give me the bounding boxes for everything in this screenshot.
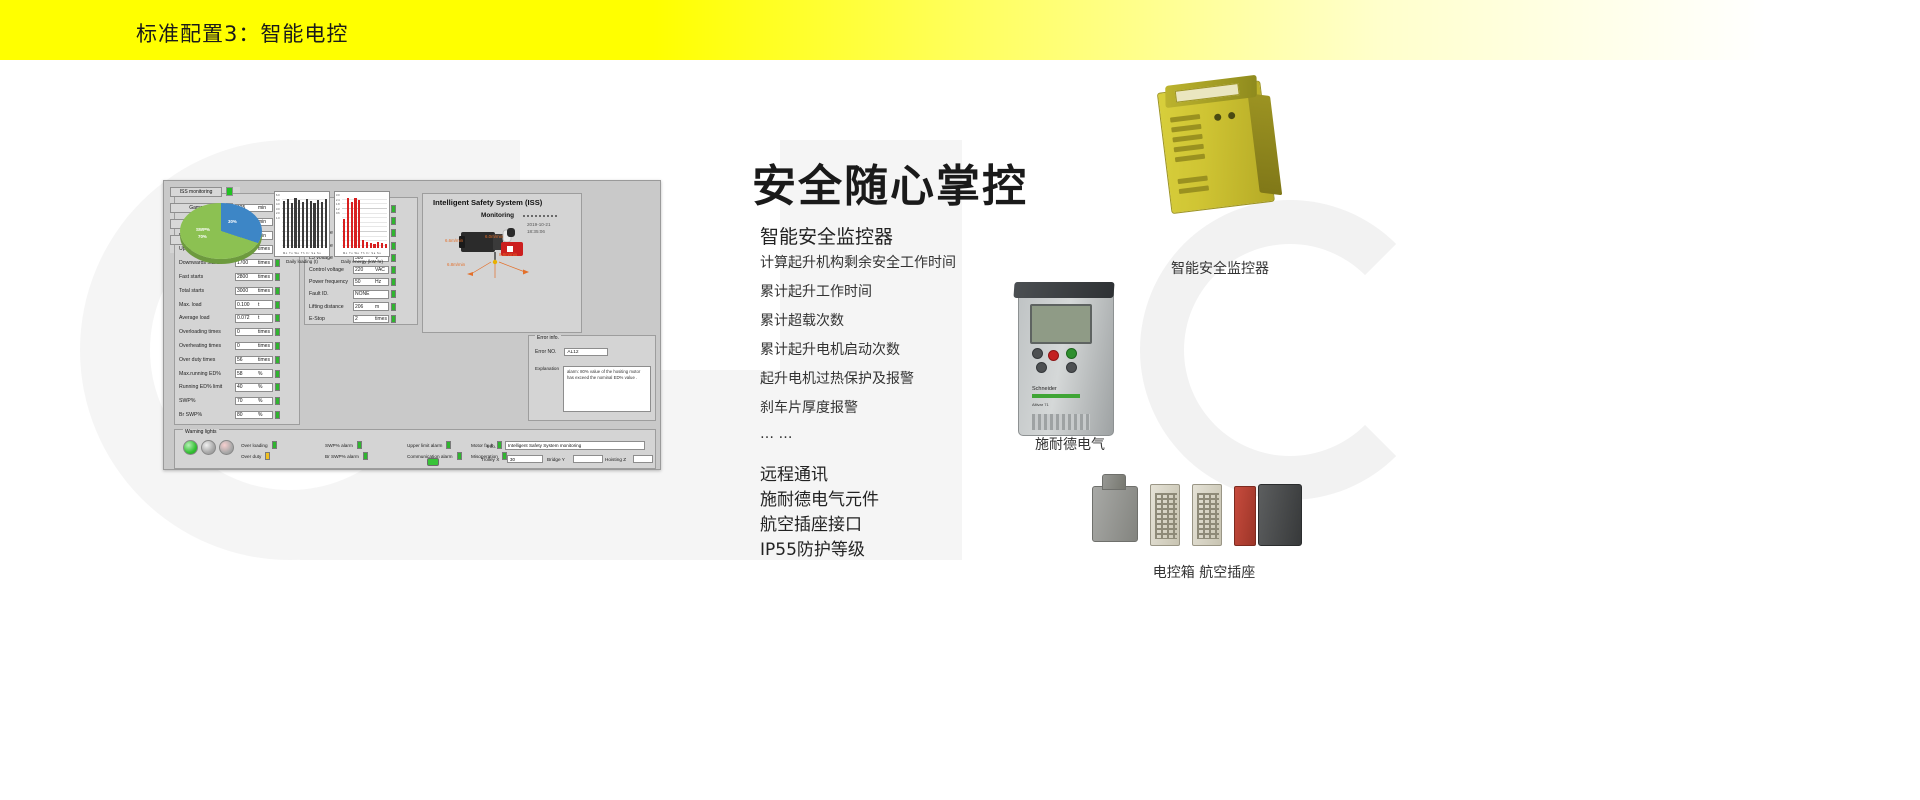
status-row: Max. load0.100t [179,300,280,310]
status-row-led [275,273,280,281]
measurement-row: Control voltage220VAC [309,265,396,275]
alarm-label: Over loading [241,443,268,448]
feature-bullet: 施耐德电气元件 [760,485,879,510]
pie-green-label-2: 70% [198,234,207,239]
measurement-row-label: Control voltage [309,267,353,273]
measurement-row-label: E-Stop [309,316,353,322]
chart-bar [347,198,349,248]
safety-relay-image [1150,71,1286,225]
alarm-indicator: Over loading [241,441,277,449]
status-row-label: Fast starts [179,274,235,280]
feature-item: 累计超载次数 [760,310,844,330]
measurement-row-led [391,242,396,250]
chart-bar [321,202,323,248]
trolley-label: Trolley X [481,457,499,462]
product-caption-relay: 智能安全监控器 [1130,258,1310,278]
alarm-led [272,441,277,449]
bridge-value[interactable] [573,455,603,463]
alarm-led [265,452,270,460]
status-row-field[interactable]: 3000times [235,287,273,295]
status-row-label: Overheating times [179,343,235,349]
feature-item: 起升电机过热保护及报警 [760,368,914,388]
error-no-label: Error NO. [535,349,556,355]
connector-insert-image [1150,484,1180,546]
hoisting-label: Hoisting Z [605,457,626,462]
daily-loading-chart: 6.05.04.03.02.01.0 Mo Tu We Th Fr Sa Su [274,191,330,257]
feature-bullet: 航空插座接口 [760,510,862,535]
chart-bar [381,243,383,248]
status-row-label: SWP% [179,398,235,404]
feature-item: 刹车片厚度报警 [760,397,858,417]
warning-lamp [219,440,234,455]
status-row-field[interactable]: 80% [235,411,273,419]
confirm-button[interactable] [427,458,439,466]
error-group-title: Error info. [535,335,561,341]
status-row-field[interactable]: 0.100t [235,300,273,308]
status-row: Br SWP%80% [179,410,280,420]
status-row-led [275,328,280,336]
status-row: Max.running ED%58% [179,369,280,379]
status-row-field[interactable]: 58% [235,369,273,377]
feature-item: 计算起升机构剩余安全工作时间 [760,252,956,272]
status-row-led [275,287,280,295]
chart-bar [287,199,289,248]
measurement-row: Power frequency50Hz [309,277,396,287]
info-value: Intelligent Safety System monitoring [505,441,645,450]
status-row-label: Total starts [179,288,235,294]
chart-bar [291,203,293,248]
alarm-led [497,441,502,449]
feature-bullet: IP55防护等级 [760,535,865,560]
speed-annotation: 8.8m/min [499,252,517,257]
hoisting-value[interactable] [633,455,653,463]
chart-bar [343,219,345,248]
alarm-label: Upper limit alarm [407,443,442,448]
monitoring-dots [523,215,557,217]
status-row-led [275,411,280,419]
daily-energy-caption: Daily energy (kW·hr) [332,259,392,264]
feature-item: 累计起升工作时间 [760,281,872,301]
daily-energy-chart: 3.02.41.81.20.6 Mo Tu We Th Fr Sa Su [334,191,390,257]
measurement-row: Lifting distance206m [309,302,396,312]
status-row-field[interactable]: 56times [235,356,273,364]
chart-bar [373,244,375,248]
product-caption-connector: 电控箱 航空插座 [1104,562,1304,582]
status-row-led [275,314,280,322]
status-row-led [275,397,280,405]
slogan: 安全随心掌控 [752,150,1028,214]
connector-shell-image [1234,486,1256,546]
pie-blue-label: 30% [228,219,237,224]
chart-y-axis: 3.02.41.81.20.6 [336,194,340,217]
chart-bar [298,200,300,248]
measurement-row-led [391,315,396,323]
product-caption-vfd: 施耐德电气 [980,434,1160,454]
monitoring-label: Monitoring [481,212,514,219]
page-header: 标准配置3：智能电控 [0,0,1920,60]
chart-bar [358,200,360,248]
measurement-row-led [391,217,396,225]
connector-dark-image [1258,484,1302,546]
vfd-brand: Schneider [1032,386,1057,392]
status-row-label: Overloading times [179,329,235,335]
trolley-value[interactable]: 30 [507,455,543,463]
status-row-label: Max. load [179,302,235,308]
alarm-label: SWP% alarm [325,443,353,448]
warning-lights-group: Warning lights Over loadingOver dutySWP%… [174,429,656,469]
status-row-label: Running ED% limit [179,384,235,390]
info-label: Info. [487,444,496,449]
speed-annotation: 6.6m/min [445,238,463,243]
speed-annotation: 6.8m/min [447,262,465,267]
status-row-label: Br SWP% [179,412,235,418]
connector-insert-2-image [1192,484,1222,546]
chart-bar [310,201,312,248]
iss-title: Intelligent Safety System (ISS) [433,198,542,207]
error-no-value: AL12 [564,348,608,356]
status-row-led [275,356,280,364]
alarm-indicator: Br SWP% alarm [325,452,368,460]
chart-bar [283,201,285,248]
feature-heading: 智能安全监控器 [760,222,893,249]
hmi-panel: Status Total running time625minUpwards t… [163,180,661,470]
status-row-label: Over duty times [179,357,235,363]
measurement-row-led [391,290,396,298]
measurement-row-led [391,229,396,237]
status-row-field[interactable]: 40% [235,383,273,391]
vfd-image: Schneider Altivar 71 [1010,282,1122,440]
chart-bar [302,202,304,248]
status-row: Fast starts2800times [179,272,280,282]
status-row: Overheating times0times [179,341,280,351]
status-row-label: Max.running ED% [179,371,235,377]
pie-green-label-1: SWP% [196,227,210,232]
chart-bar [377,242,379,248]
status-row-field[interactable]: 0times [235,328,273,336]
chart-bar [313,203,315,248]
status-row-label: Average load [179,315,235,321]
status-row-led [275,301,280,309]
alarm-led [457,452,462,460]
measurement-row-field[interactable]: 220VAC [353,266,389,274]
chart-bar [317,200,319,248]
measurement-row-label: Fault ID. [309,291,353,297]
measurement-row-field[interactable]: 206m [353,302,389,310]
alarm-label: Over duty [241,454,261,459]
explanation-text: alarm: 80% value of the hositing motor h… [563,366,651,412]
chart-bar [306,199,308,248]
status-row-led [275,342,280,350]
measurement-row-led [391,266,396,274]
alarm-led [363,452,368,460]
status-row-field[interactable]: 0times [235,342,273,350]
measurement-row-led [391,303,396,311]
status-row-field[interactable]: 0.072t [235,314,273,322]
alarm-indicator: Upper limit alarm [407,441,451,449]
chart-bar [362,240,364,248]
chart-bar [385,244,387,248]
warning-group-title: Warning lights [183,429,219,435]
connector-hood-image [1092,486,1138,542]
chart-bar [325,199,327,248]
alarm-label: Br SWP% alarm [325,454,359,459]
measurement-row-field[interactable]: NONE [353,290,389,298]
chart-bar [370,243,372,248]
hoist-illustration [451,228,561,286]
chart-bar [354,198,356,248]
measurement-row-label: Lifting distance [309,304,353,310]
status-row-field[interactable]: 70% [235,397,273,405]
status-row: Total starts3000times [179,286,280,296]
alarm-led [357,441,362,449]
measurement-row: E-Stop2times [309,314,396,324]
chart-bar [366,242,368,248]
alarm-indicator: SWP% alarm [325,441,362,449]
monitoring-group: Intelligent Safety System (ISS) Monitori… [422,193,582,333]
vfd-model: Altivar 71 [1032,402,1049,407]
measurement-row-field[interactable]: 50Hz [353,278,389,286]
page-title: 标准配置3：智能电控 [136,18,348,48]
alarm-led [446,441,451,449]
measurement-row: Fault ID.NONE [309,289,396,299]
explanation-label: Explanation [535,366,559,371]
chart-bar [294,198,296,248]
alarm-indicator: Over duty [241,452,270,460]
status-row: Overloading times0times [179,327,280,337]
chart-y-axis: 6.05.04.03.02.01.0 [276,194,280,222]
status-row-field[interactable]: 2800times [235,273,273,281]
timestamp-date: 2019-10-21 [527,222,551,227]
feature-item: 累计起升电机启动次数 [760,339,900,359]
feature-bullet: 远程通讯 [760,460,828,485]
measurement-row-label: Power frequency [309,279,353,285]
status-row: Average load0.072t [179,313,280,323]
swp-pie-chart: 30% SWP% 70% [172,193,270,267]
measurement-row-led [391,205,396,213]
error-info-group: Error info. Error NO. AL12 Explanation a… [528,335,656,421]
status-row: Running ED% limit40% [179,382,280,392]
daily-loading-caption: Daily loading (t) [274,259,330,264]
status-row: SWP%70% [179,396,280,406]
warning-lamp [183,440,198,455]
speed-annotation: 6.0m/min [485,234,503,239]
bridge-label: Bridge Y [547,457,565,462]
feature-item: … … [760,426,792,442]
status-row-led [275,383,280,391]
warning-lamp [201,440,216,455]
measurement-row-field[interactable]: 2times [353,315,389,323]
status-row: Over duty times56times [179,355,280,365]
status-row-led [275,370,280,378]
chart-bar [351,202,353,248]
measurement-row-led [391,278,396,286]
